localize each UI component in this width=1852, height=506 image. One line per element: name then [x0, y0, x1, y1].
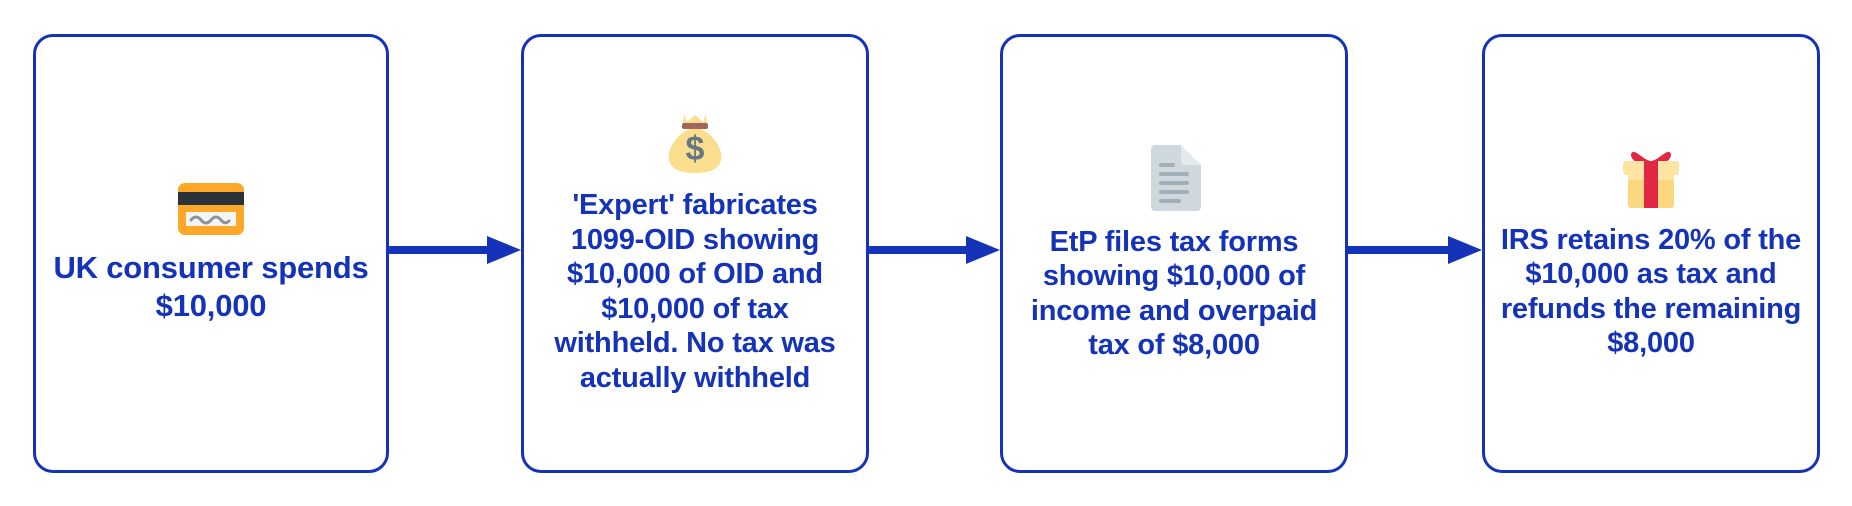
flow-step-card-2: $ 'Expert' fabricates 1099-OID showing $…: [521, 34, 869, 473]
flow-step-card-4: IRS retains 20% of the $10,000 as tax an…: [1482, 34, 1820, 473]
flow-arrow-1: [389, 230, 521, 270]
money-bag-icon: $: [665, 112, 725, 174]
svg-text:$: $: [686, 130, 705, 168]
flow-step-label-2: 'Expert' fabricates 1099-OID showing $10…: [538, 188, 852, 395]
flow-step-card-3: EtP files tax forms showing $10,000 of i…: [1000, 34, 1348, 473]
flow-step-content-2: $ 'Expert' fabricates 1099-OID showing $…: [524, 112, 866, 395]
document-icon: [1147, 145, 1201, 211]
flow-step-content-3: EtP files tax forms showing $10,000 of i…: [1003, 145, 1345, 363]
credit-card-icon: [178, 183, 244, 235]
gift-icon: [1619, 147, 1683, 209]
flow-arrow-3: [1348, 230, 1482, 270]
flow-step-label-1: UK consumer spends $10,000: [50, 249, 372, 325]
flow-step-label-4: IRS retains 20% of the $10,000 as tax an…: [1499, 223, 1803, 361]
flow-step-label-3: EtP files tax forms showing $10,000 of i…: [1017, 225, 1331, 363]
flow-step-card-1: UK consumer spends $10,000: [33, 34, 389, 473]
flow-diagram: UK consumer spends $10,000 $ 'Expert' fa…: [0, 0, 1852, 506]
flow-step-content-4: IRS retains 20% of the $10,000 as tax an…: [1485, 147, 1817, 361]
flow-arrow-2: [869, 230, 1000, 270]
flow-step-content-1: UK consumer spends $10,000: [36, 183, 386, 325]
